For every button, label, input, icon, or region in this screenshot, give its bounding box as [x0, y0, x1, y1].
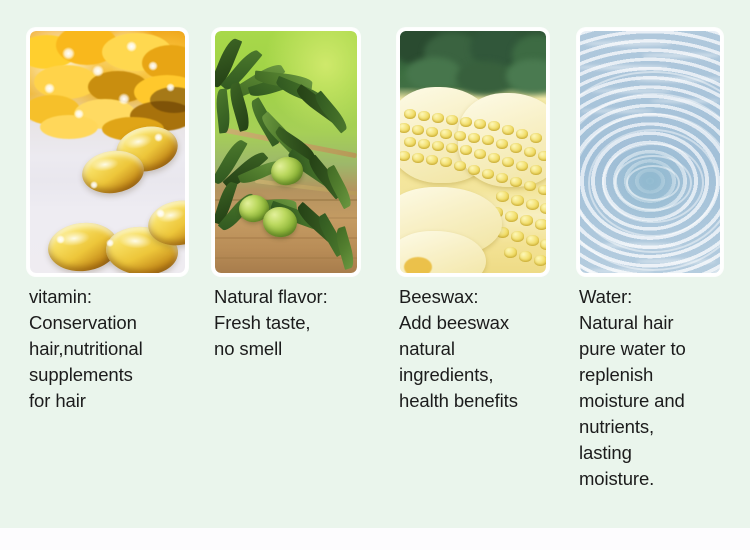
water-ripples-photo: [577, 28, 723, 276]
ingredient-card-natural-flavor: Natural flavor: Fresh taste, no smell: [212, 28, 360, 276]
caption-natural-flavor: Natural flavor: Fresh taste, no smell: [214, 284, 382, 362]
bottom-white-strip: [0, 528, 750, 550]
ingredient-card-vitamin: vitamin: Conservation hair,nutritional s…: [27, 28, 188, 276]
olive-branch-photo: [212, 28, 360, 276]
caption-beeswax: Beeswax: Add beeswax natural ingredients…: [399, 284, 574, 414]
ingredient-card-row: vitamin: Conservation hair,nutritional s…: [0, 0, 750, 528]
ingredients-poster: vitamin: Conservation hair,nutritional s…: [0, 0, 750, 550]
caption-vitamin: vitamin: Conservation hair,nutritional s…: [29, 284, 197, 414]
caption-water: Water: Natural hair pure water to replen…: [579, 284, 747, 492]
ingredient-card-beeswax: Beeswax: Add beeswax natural ingredients…: [397, 28, 549, 276]
vitamin-softgel-capsules-photo: [27, 28, 188, 276]
beeswax-honeycomb-photo: [397, 28, 549, 276]
ingredient-card-water: Water: Natural hair pure water to replen…: [577, 28, 723, 276]
